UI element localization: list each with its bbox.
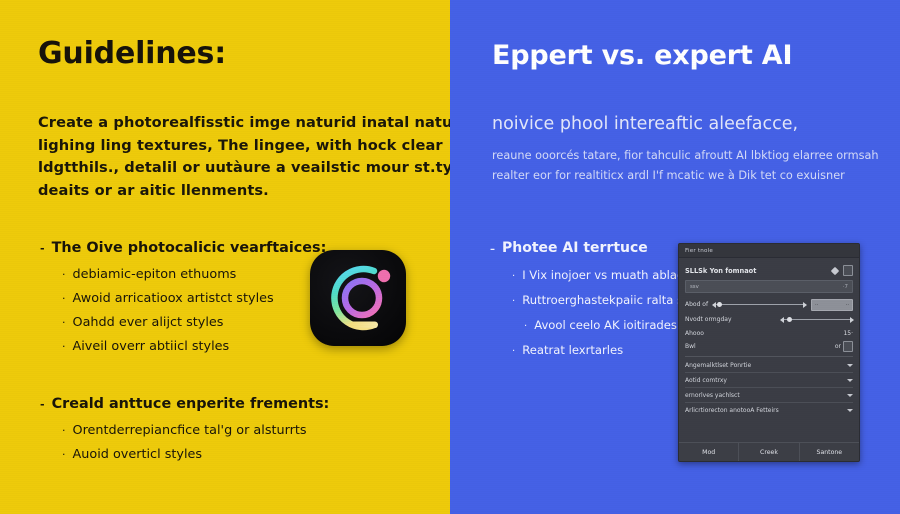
list-item: · Orentderrepiancfice tal'g or alsturrts bbox=[40, 419, 329, 443]
list-item-label: Avool ceelo AK ioitirades bbox=[534, 313, 677, 338]
left-body-line: lighing ling textures, The lingee, with … bbox=[38, 135, 428, 158]
list-item: · Avool ceelo AK ioitirades bbox=[490, 313, 702, 338]
dropdown-1-label: Angemalktlset Ponrtie bbox=[685, 362, 751, 369]
chevron-down-icon[interactable] bbox=[847, 379, 853, 382]
left-panel-heading: Guidelines: bbox=[38, 36, 226, 71]
dash-mark: – bbox=[490, 245, 495, 255]
group-title-text: The Oive photocalicic vearftaices: bbox=[52, 240, 327, 256]
chevron-down-icon[interactable] bbox=[847, 394, 853, 397]
slider-2-label: Nvodt ormgday bbox=[685, 316, 732, 323]
list-item-label: Orentderrepiancfice tal'g or alsturrts bbox=[73, 419, 307, 443]
group-title-text: Creald anttuce enperite frements: bbox=[52, 396, 330, 412]
value-row-1-label: Ahooo bbox=[685, 330, 704, 337]
chevron-down-icon[interactable] bbox=[847, 364, 853, 367]
left-panel: Guidelines: Create a photorealfisstic im… bbox=[0, 0, 450, 514]
list-item: · Auoid overticl styles bbox=[40, 443, 329, 467]
slider-1-right-cap bbox=[803, 302, 807, 308]
panel-header-row: SLLSk Yon fomnaot bbox=[685, 263, 853, 278]
list-item: · Aiveil overr abtiicl styles bbox=[40, 335, 326, 359]
bullet-dot-icon: · bbox=[62, 317, 66, 328]
right-panel-lead: noivice phool intereaftic aleefacce, bbox=[492, 112, 892, 136]
right-panel-subtext: reaune ooorcés tatare, fior tahculic afr… bbox=[492, 146, 892, 186]
slider-2-right-cap bbox=[850, 317, 854, 323]
value-row-2-label: Bwl bbox=[685, 343, 696, 350]
slider-1-knob[interactable] bbox=[717, 302, 722, 307]
left-body-line: ldgtthils., detalil or uutàure a veailst… bbox=[38, 157, 428, 180]
bullet-dot-icon: · bbox=[62, 449, 66, 460]
list-item-label: debiamic-epiton ethuoms bbox=[73, 263, 237, 287]
right-bullet-group-1: –Photee AI terrtuce · I Vix inojoer vs m… bbox=[490, 240, 702, 363]
value-row-1: Ahooo 15· bbox=[685, 327, 853, 340]
right-sub-line: realter eor for realtiticx ardl I'f mcat… bbox=[492, 166, 892, 186]
list-item: · I Vix inojoer vs muath ablact bbox=[490, 263, 702, 288]
slider-1-numberbox[interactable]: ·· ·· bbox=[811, 299, 853, 311]
group-title: –Photee AI terrtuce bbox=[490, 240, 702, 256]
dropdown-1[interactable]: Angemalktlset Ponrtie bbox=[685, 358, 853, 373]
slider-2-left-cap bbox=[780, 317, 784, 323]
preset-field[interactable]: ssv ·7 bbox=[685, 280, 853, 293]
list-item: · Reatrat lexrtarles bbox=[490, 338, 702, 363]
left-body-line: deaits or ar aitic llenments. bbox=[38, 180, 428, 203]
right-panel-heading: Eppert vs. expert AI bbox=[492, 40, 792, 71]
bullet-dot-icon: · bbox=[512, 272, 515, 282]
photo-ai-app-icon[interactable] bbox=[310, 250, 406, 346]
list-item-label: Reatrat lexrtarles bbox=[522, 338, 623, 363]
page-icon[interactable] bbox=[843, 265, 853, 276]
slider-1-track[interactable] bbox=[713, 300, 806, 309]
panel-titlebar: Fier tnole bbox=[679, 244, 859, 258]
dropdown-4[interactable]: Arlicrtiorecton anotooA Fetteirs bbox=[685, 403, 853, 417]
list-item-label: I Vix inojoer vs muath ablact bbox=[522, 263, 688, 288]
value-row-2-value: or bbox=[835, 343, 841, 350]
dropdown-3-label: ernorlves yachlsct bbox=[685, 392, 740, 399]
bullet-dot-icon: · bbox=[512, 297, 515, 307]
footer-button-mod[interactable]: Mod bbox=[679, 443, 739, 461]
slider-1-numberbox-left: ·· bbox=[815, 302, 818, 308]
panel-title: Fier tnole bbox=[685, 248, 713, 254]
panel-header-label: SLLSk Yon fomnaot bbox=[685, 267, 756, 275]
left-bullet-group-2: -Creald anttuce enperite frements: · Ore… bbox=[40, 396, 329, 467]
left-panel-body: Create a photorealfisstic imge naturid i… bbox=[38, 112, 428, 202]
right-panel: Eppert vs. expert AI noivice phool inter… bbox=[450, 0, 900, 514]
group-title-text: Photee AI terrtuce bbox=[502, 240, 648, 256]
slider-row-2[interactable]: Nvodt ormgday bbox=[685, 312, 853, 327]
group-title: -The Oive photocalicic vearftaices: bbox=[40, 240, 326, 256]
dropdown-4-label: Arlicrtiorecton anotooA Fetteirs bbox=[685, 407, 779, 414]
right-sub-line: reaune ooorcés tatare, fior tahculic afr… bbox=[492, 146, 892, 166]
value-row-1-value: 15· bbox=[843, 330, 853, 337]
bullet-dot-icon: · bbox=[524, 322, 527, 332]
list-item: · debiamic-epiton ethuoms bbox=[40, 263, 326, 287]
list-item: · Awoid arricatioox artistct styles bbox=[40, 287, 326, 311]
bullet-dot-icon: · bbox=[62, 341, 66, 352]
list-item-label: Auoid overticl styles bbox=[73, 443, 203, 467]
chevron-down-icon[interactable] bbox=[847, 409, 853, 412]
slider-2-knob[interactable] bbox=[787, 317, 792, 322]
list-item-label: Ruttroerghastekpaiic ralta sver bbox=[522, 288, 702, 313]
slider-1-numberbox-right: ·· bbox=[846, 302, 849, 308]
value-row-2: Bwl or bbox=[685, 340, 853, 353]
group-title: -Creald anttuce enperite frements: bbox=[40, 396, 329, 412]
left-body-line: Create a photorealfisstic imge naturid i… bbox=[38, 112, 428, 135]
list-item: · Ruttroerghastekpaiic ralta sver bbox=[490, 288, 702, 313]
slider-1-left-cap bbox=[712, 302, 716, 308]
photo-editor-panel[interactable]: Fier tnole SLLSk Yon fomnaot ssv ·7 bbox=[678, 243, 860, 462]
left-bullet-group-1: -The Oive photocalicic vearftaices: · de… bbox=[40, 240, 326, 359]
dropdown-2[interactable]: Aotid comtrxy bbox=[685, 373, 853, 388]
panel-footer: Mod Creek Santone bbox=[679, 442, 859, 461]
bullet-dot-icon: · bbox=[512, 347, 515, 357]
preset-field-value: ·7 bbox=[843, 284, 848, 290]
toggle-icon[interactable] bbox=[843, 341, 853, 352]
slider-1-label: Abod of bbox=[685, 301, 708, 308]
slider-2-track[interactable] bbox=[781, 315, 853, 324]
dropdown-3[interactable]: ernorlves yachlsct bbox=[685, 388, 853, 403]
slider-row-1[interactable]: Abod of ·· ·· bbox=[685, 297, 853, 312]
footer-button-santone[interactable]: Santone bbox=[800, 443, 859, 461]
list-item-label: Oahdd ever alijct styles bbox=[73, 311, 224, 335]
bullet-dot-icon: · bbox=[62, 293, 66, 304]
list-item-label: Aiveil overr abtiicl styles bbox=[73, 335, 230, 359]
slide-canvas: Guidelines: Create a photorealfisstic im… bbox=[0, 0, 900, 514]
footer-button-creek[interactable]: Creek bbox=[739, 443, 799, 461]
list-item: · Oahdd ever alijct styles bbox=[40, 311, 326, 335]
bullet-dot-icon: · bbox=[62, 269, 66, 280]
divider bbox=[685, 356, 853, 357]
preset-field-label: ssv bbox=[690, 284, 699, 290]
dash-mark: - bbox=[40, 243, 45, 254]
diamond-icon[interactable] bbox=[831, 266, 839, 274]
dropdown-2-label: Aotid comtrxy bbox=[685, 377, 727, 384]
bullet-dot-icon: · bbox=[62, 425, 66, 436]
list-item-label: Awoid arricatioox artistct styles bbox=[73, 287, 274, 311]
right-lead-line: noivice phool intereaftic aleefacce, bbox=[492, 112, 892, 136]
dash-mark: - bbox=[40, 399, 45, 410]
